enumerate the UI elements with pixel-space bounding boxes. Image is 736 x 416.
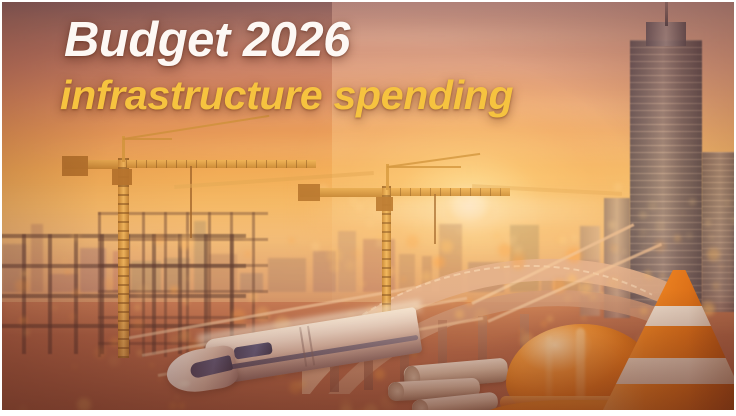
crane-counterweight [62,156,88,176]
crane-hoist-cable [190,166,192,238]
crane-operator-cab [376,197,393,211]
skyscraper-antenna [665,2,668,26]
budget-infrastructure-banner: Budget 2026 infrastructure spending [0,0,736,416]
crane-hoist-cable [434,194,436,244]
crane-tie-bar [387,166,461,168]
crane-operator-cab [112,169,132,185]
cloud-streak [2,28,734,44]
traffic-cone [598,270,734,410]
crane-jib [126,160,316,168]
crane-mast [118,158,129,358]
crane-jib [390,188,510,196]
crane-tie-bar [123,138,172,140]
crane-counterweight [298,184,320,201]
traffic-cone-shading [598,270,734,410]
scene-stage: Budget 2026 infrastructure spending [2,2,734,410]
